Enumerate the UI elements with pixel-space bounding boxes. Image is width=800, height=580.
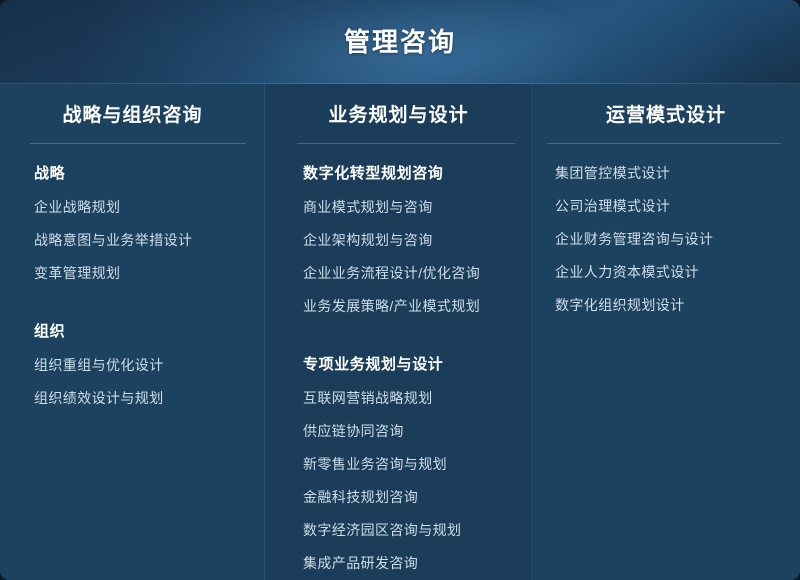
page-title: 管理咨询	[344, 29, 456, 55]
group-title: 专项业务规划与设计	[303, 357, 532, 372]
column-business-planning-design: 业务规划与设计 数字化转型规划咨询 商业模式规划与咨询 企业架构规划与咨询 企业…	[265, 84, 532, 580]
list-item[interactable]: 集团管控模式设计	[555, 166, 800, 180]
list-item[interactable]: 业务发展策略/产业模式规划	[303, 299, 532, 313]
list-item[interactable]: 战略意图与业务举措设计	[34, 233, 265, 247]
list-item[interactable]: 企业财务管理咨询与设计	[555, 232, 800, 246]
group-title: 战略	[34, 166, 265, 181]
group-title: 组织	[34, 324, 265, 339]
list-item[interactable]: 企业战略规划	[34, 200, 265, 214]
list-item[interactable]: 互联网营销战略规划	[303, 391, 532, 405]
group-organization: 组织 组织重组与优化设计 组织绩效设计与规划	[34, 324, 265, 405]
list-item[interactable]: 商业模式规划与咨询	[303, 200, 532, 214]
list-item[interactable]: 供应链协同咨询	[303, 424, 532, 438]
group-strategy: 战略 企业战略规划 战略意图与业务举措设计 变革管理规划	[34, 166, 265, 280]
column-heading-strategy-organization: 战略与组织咨询	[0, 106, 265, 143]
list-item[interactable]: 企业业务流程设计/优化咨询	[303, 266, 532, 280]
list-item[interactable]: 数字化组织规划设计	[555, 298, 800, 312]
list-item[interactable]: 金融科技规划咨询	[303, 490, 532, 504]
group-special-business: 专项业务规划与设计 互联网营销战略规划 供应链协同咨询 新零售业务咨询与规划 金…	[303, 357, 532, 570]
list-item[interactable]: 组织绩效设计与规划	[34, 391, 265, 405]
list-item[interactable]: 新零售业务咨询与规划	[303, 457, 532, 471]
group-operating-model: 集团管控模式设计 公司治理模式设计 企业财务管理咨询与设计 企业人力资本模式设计…	[555, 166, 800, 312]
column-body: 集团管控模式设计 公司治理模式设计 企业财务管理咨询与设计 企业人力资本模式设计…	[532, 144, 800, 312]
column-body: 战略 企业战略规划 战略意图与业务举措设计 变革管理规划 组织 组织重组与优化设…	[0, 144, 265, 405]
list-item[interactable]: 组织重组与优化设计	[34, 358, 265, 372]
column-heading-business-planning-design: 业务规划与设计	[265, 106, 532, 143]
column-body: 数字化转型规划咨询 商业模式规划与咨询 企业架构规划与咨询 企业业务流程设计/优…	[265, 144, 532, 570]
list-item[interactable]: 集成产品研发咨询	[303, 556, 532, 570]
column-strategy-organization: 战略与组织咨询 战略 企业战略规划 战略意图与业务举措设计 变革管理规划 组织 …	[0, 84, 265, 580]
column-operating-model-design: 运营模式设计 集团管控模式设计 公司治理模式设计 企业财务管理咨询与设计 企业人…	[532, 84, 800, 580]
card-header: 管理咨询	[0, 0, 800, 84]
list-item[interactable]: 数字经济园区咨询与规划	[303, 523, 532, 537]
columns-container: 战略与组织咨询 战略 企业战略规划 战略意图与业务举措设计 变革管理规划 组织 …	[0, 84, 800, 580]
list-item[interactable]: 企业人力资本模式设计	[555, 265, 800, 279]
list-item[interactable]: 企业架构规划与咨询	[303, 233, 532, 247]
management-consulting-card: 管理咨询 战略与组织咨询 战略 企业战略规划 战略意图与业务举措设计 变革管理规…	[0, 0, 800, 580]
group-title: 数字化转型规划咨询	[303, 166, 532, 181]
list-item[interactable]: 公司治理模式设计	[555, 199, 800, 213]
column-heading-operating-model-design: 运营模式设计	[532, 106, 800, 143]
group-digital-transformation: 数字化转型规划咨询 商业模式规划与咨询 企业架构规划与咨询 企业业务流程设计/优…	[303, 166, 532, 313]
list-item[interactable]: 变革管理规划	[34, 266, 265, 280]
